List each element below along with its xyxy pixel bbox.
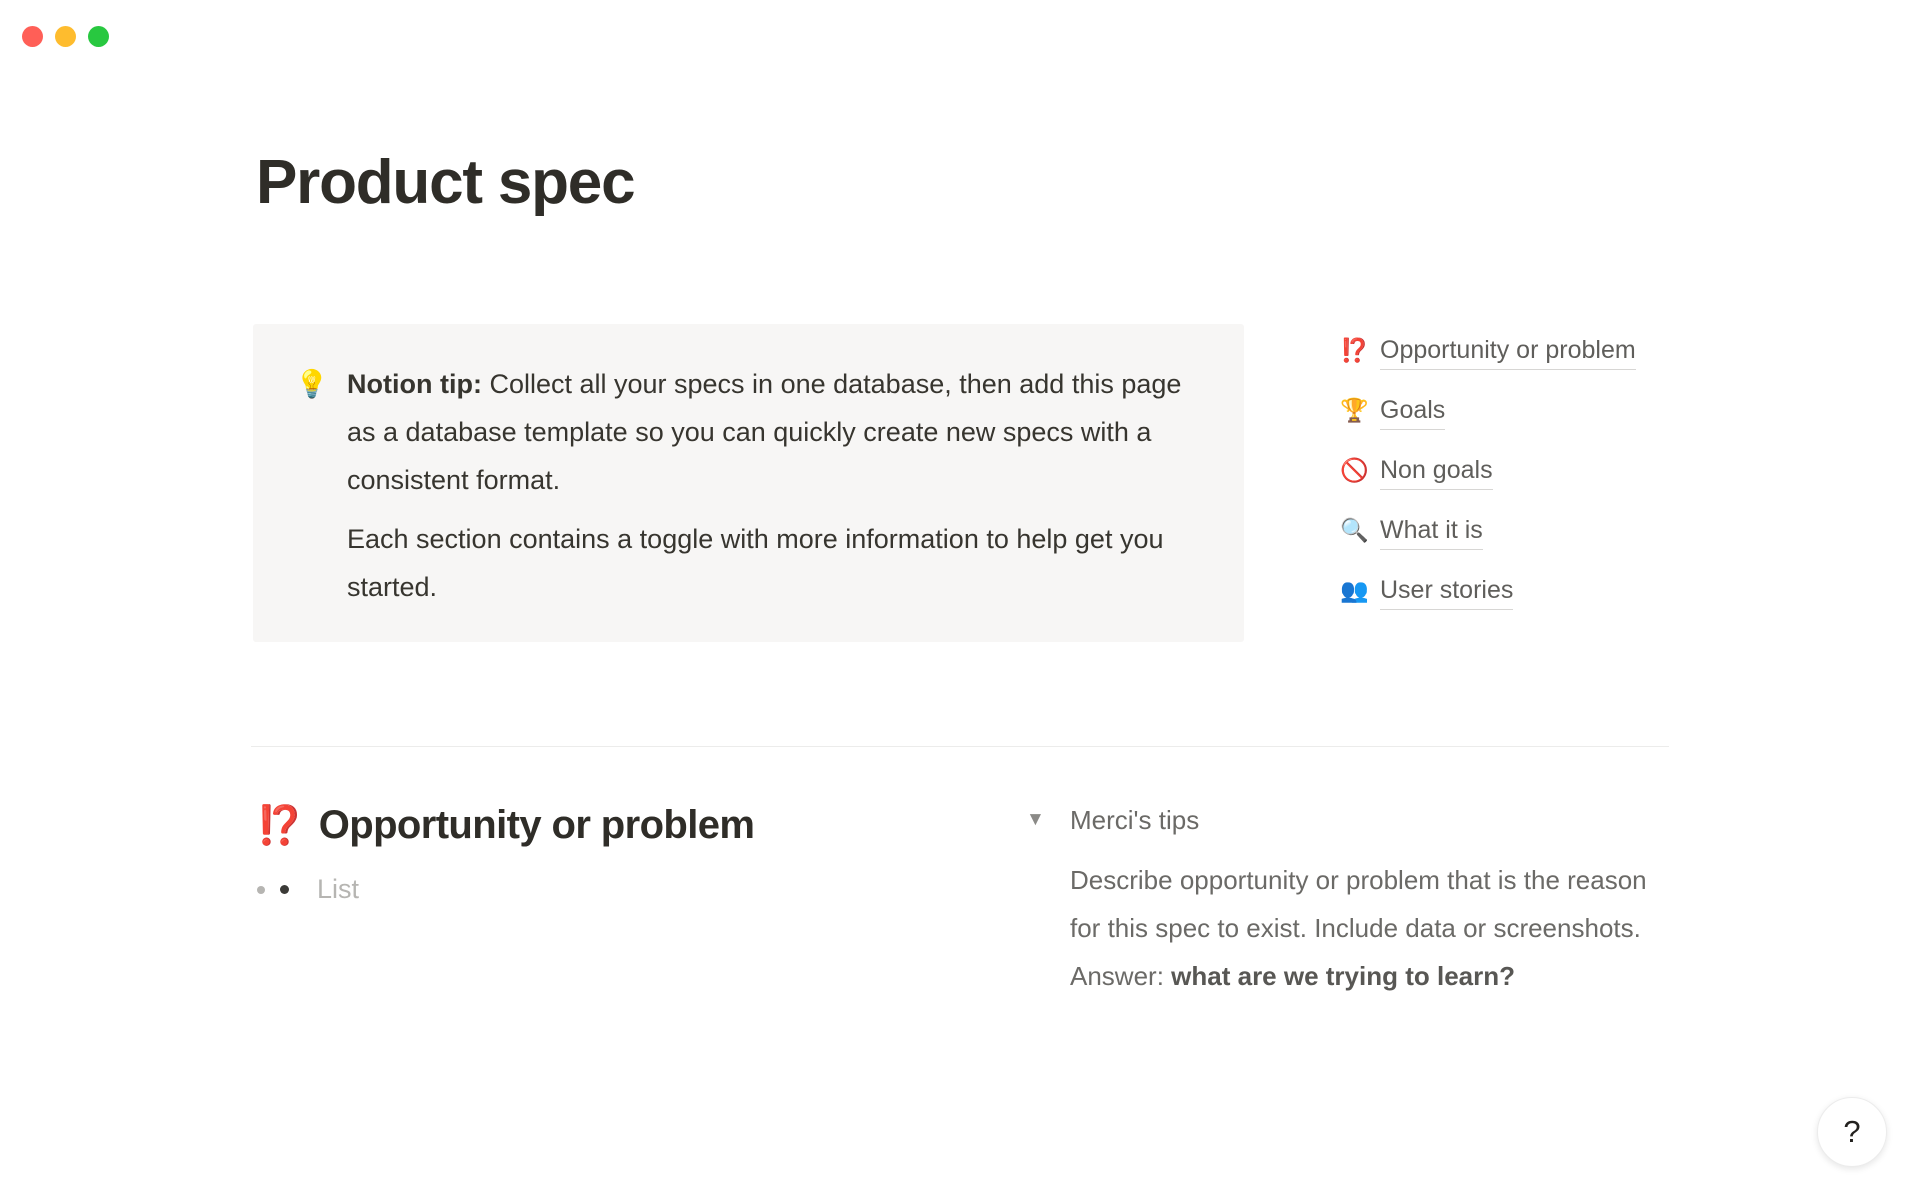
toc-link-goals[interactable]: 🏆 Goals	[1340, 396, 1760, 456]
table-of-contents: ⁉️ Opportunity or problem 🏆 Goals 🚫 Non …	[1340, 336, 1760, 636]
exclamation-question-icon: ⁉️	[1340, 337, 1380, 364]
toc-link-opportunity-or-problem[interactable]: ⁉️ Opportunity or problem	[1340, 336, 1760, 396]
toggle-header[interactable]: ▼ Merci's tips	[1026, 800, 1666, 840]
toc-label: What it is	[1380, 516, 1483, 550]
toc-label: Opportunity or problem	[1380, 336, 1636, 370]
callout-paragraph-2: Each section contains a toggle with more…	[347, 515, 1204, 611]
toggle-body: Describe opportunity or problem that is …	[1026, 856, 1666, 1000]
toc-label: Goals	[1380, 396, 1445, 430]
app-window: Product spec 💡 Notion tip: Collect all y…	[0, 0, 1920, 1200]
section-divider	[251, 746, 1669, 747]
trophy-icon: 🏆	[1340, 397, 1380, 424]
merci-tips-toggle: ▼ Merci's tips Describe opportunity or p…	[1026, 800, 1666, 1000]
callout-lead-label: Notion tip:	[347, 369, 482, 399]
callout-text: Notion tip: Collect all your specs in on…	[347, 360, 1204, 611]
opportunity-section: ⁉️ Opportunity or problem List	[256, 800, 956, 909]
toc-label: Non goals	[1380, 456, 1493, 490]
page-content: Product spec 💡 Notion tip: Collect all y…	[0, 0, 1920, 1200]
light-bulb-icon: 💡	[295, 360, 347, 611]
busts-in-silhouette-icon: 👥	[1340, 577, 1380, 604]
callout-inner: 💡 Notion tip: Collect all your specs in …	[295, 360, 1204, 611]
callout-paragraph-1: Notion tip: Collect all your specs in on…	[347, 360, 1204, 504]
prohibited-icon: 🚫	[1340, 457, 1380, 484]
notion-tip-callout[interactable]: 💡 Notion tip: Collect all your specs in …	[253, 324, 1244, 642]
section-heading-label: Opportunity or problem	[319, 800, 755, 850]
chevron-down-icon[interactable]: ▼	[1026, 800, 1070, 840]
magnifying-glass-icon: 🔍	[1340, 517, 1380, 544]
page-title[interactable]: Product spec	[256, 148, 634, 218]
toc-label: User stories	[1380, 576, 1513, 610]
help-button[interactable]: ?	[1817, 1097, 1887, 1167]
toggle-title: Merci's tips	[1070, 800, 1199, 840]
toggle-body-bold: what are we trying to learn?	[1171, 961, 1515, 991]
section-heading-opportunity-or-problem[interactable]: ⁉️ Opportunity or problem	[256, 800, 956, 851]
toc-link-what-it-is[interactable]: 🔍 What it is	[1340, 516, 1760, 576]
toc-link-non-goals[interactable]: 🚫 Non goals	[1340, 456, 1760, 516]
exclamation-question-icon: ⁉️	[256, 801, 303, 851]
toc-link-user-stories[interactable]: 👥 User stories	[1340, 576, 1760, 636]
bulleted-list: List	[256, 869, 956, 909]
list-item[interactable]: List	[280, 869, 956, 909]
